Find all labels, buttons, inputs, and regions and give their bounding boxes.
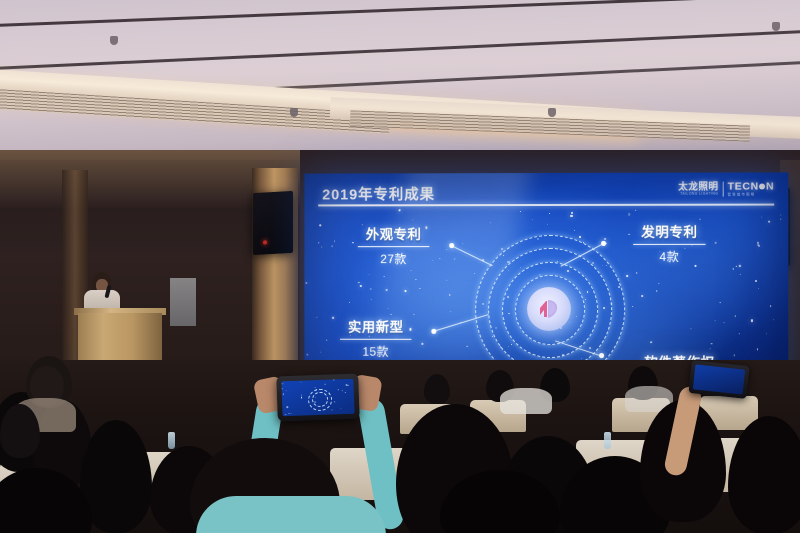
star bbox=[720, 302, 721, 303]
star bbox=[520, 211, 521, 212]
label-underline bbox=[340, 338, 411, 340]
label-value: 27款 bbox=[338, 250, 449, 267]
star bbox=[319, 225, 320, 226]
smartphone[interactable] bbox=[688, 360, 749, 399]
star bbox=[739, 265, 741, 267]
star bbox=[758, 288, 759, 289]
star bbox=[412, 219, 413, 220]
patent-p-icon bbox=[536, 297, 562, 321]
logo-english-name: TECNN bbox=[728, 181, 775, 192]
star bbox=[547, 224, 549, 226]
star bbox=[334, 401, 335, 402]
star bbox=[414, 313, 415, 314]
wall-speaker bbox=[253, 191, 293, 255]
star bbox=[360, 285, 362, 287]
star bbox=[321, 247, 322, 248]
star bbox=[773, 319, 774, 320]
smartphone-screen bbox=[693, 364, 745, 394]
label-value: 15款 bbox=[320, 343, 431, 360]
star bbox=[287, 407, 288, 408]
star bbox=[405, 290, 407, 292]
ceiling-seam bbox=[0, 0, 800, 28]
ceiling bbox=[0, 0, 800, 175]
star bbox=[756, 349, 758, 351]
star bbox=[733, 268, 734, 269]
ceiling-seam bbox=[0, 28, 800, 72]
star bbox=[780, 215, 781, 216]
label-name: 发明专利 bbox=[613, 221, 726, 241]
star bbox=[337, 389, 338, 390]
smartphone-screen bbox=[281, 379, 354, 416]
sprinkler-head bbox=[290, 108, 298, 117]
star bbox=[387, 308, 388, 309]
logo-chinese: 太龙照明 TAILONG LIGHTING bbox=[678, 182, 718, 196]
star bbox=[329, 393, 330, 394]
star bbox=[467, 346, 469, 348]
star bbox=[570, 215, 572, 217]
star bbox=[315, 397, 316, 398]
star bbox=[695, 265, 696, 266]
company-logo: 太龙照明 TAILONG LIGHTING TECNN 智慧城市照明 bbox=[678, 181, 774, 196]
star bbox=[306, 354, 308, 356]
star bbox=[420, 288, 421, 289]
patent-core bbox=[527, 287, 571, 331]
logo-chinese-tagline: TAILONG LIGHTING bbox=[680, 193, 718, 197]
star bbox=[761, 217, 762, 218]
star bbox=[282, 388, 283, 389]
star bbox=[282, 383, 283, 384]
star bbox=[331, 245, 333, 247]
label-underline bbox=[633, 243, 705, 245]
star bbox=[416, 279, 417, 280]
slide-title: 2019年专利成果 bbox=[322, 183, 435, 204]
star bbox=[636, 272, 638, 274]
star bbox=[318, 242, 319, 243]
star bbox=[449, 294, 451, 296]
star bbox=[283, 394, 284, 395]
label-invention-patent: 发明专利 4款 bbox=[613, 221, 726, 265]
star bbox=[346, 384, 348, 386]
sprinkler-head bbox=[110, 36, 118, 45]
star bbox=[641, 295, 643, 297]
star bbox=[288, 413, 289, 414]
star bbox=[574, 230, 575, 231]
star bbox=[410, 270, 411, 271]
sprinkler-head bbox=[548, 108, 556, 117]
star bbox=[740, 274, 741, 275]
star bbox=[314, 387, 315, 388]
conference-photo: 2019年专利成果 太龙照明 TAILONG LIGHTING TECNN 智慧… bbox=[0, 0, 800, 533]
star bbox=[347, 385, 348, 386]
star bbox=[549, 213, 550, 214]
star bbox=[571, 212, 573, 214]
label-name: 外观专利 bbox=[338, 223, 449, 243]
star bbox=[757, 242, 758, 243]
star bbox=[659, 283, 660, 284]
star bbox=[325, 383, 326, 384]
audience-shirt-teal bbox=[196, 496, 386, 533]
star bbox=[626, 275, 628, 277]
star bbox=[723, 322, 724, 323]
label-name: 实用新型 bbox=[320, 316, 431, 336]
star bbox=[358, 282, 360, 284]
star bbox=[736, 266, 737, 267]
logo-chinese-name: 太龙照明 bbox=[678, 182, 718, 192]
audience-head bbox=[424, 374, 450, 404]
star bbox=[770, 305, 772, 307]
star bbox=[781, 219, 782, 220]
star bbox=[711, 343, 712, 344]
logo-english-tagline: 智慧城市照明 bbox=[728, 193, 756, 196]
star bbox=[331, 409, 333, 411]
star bbox=[650, 341, 652, 343]
connector-dot bbox=[431, 329, 436, 334]
star bbox=[333, 380, 334, 381]
star bbox=[715, 320, 716, 321]
logo-english: TECNN 智慧城市照明 bbox=[728, 181, 775, 196]
star bbox=[632, 306, 633, 307]
star bbox=[334, 241, 336, 243]
star bbox=[532, 219, 533, 220]
star bbox=[462, 243, 463, 244]
label-utility-model: 实用新型 15款 bbox=[320, 316, 431, 360]
star bbox=[735, 316, 736, 317]
speaker-led bbox=[263, 240, 267, 244]
whiteboard bbox=[170, 278, 196, 326]
star bbox=[370, 299, 371, 300]
star bbox=[342, 390, 343, 391]
star bbox=[285, 414, 286, 415]
star bbox=[305, 282, 307, 284]
star bbox=[349, 302, 350, 303]
star bbox=[383, 276, 384, 277]
star bbox=[300, 381, 301, 382]
star bbox=[690, 328, 691, 329]
water-bottle bbox=[168, 432, 175, 449]
connector-dot bbox=[449, 243, 454, 248]
star bbox=[755, 280, 757, 282]
star bbox=[454, 259, 456, 261]
star bbox=[451, 311, 452, 312]
star bbox=[751, 319, 753, 321]
logo-dot-icon bbox=[759, 184, 765, 190]
label-value: 4款 bbox=[613, 248, 726, 265]
star bbox=[301, 394, 302, 395]
star bbox=[316, 317, 317, 318]
star bbox=[315, 401, 316, 402]
star bbox=[768, 221, 770, 223]
star bbox=[636, 210, 637, 211]
star bbox=[490, 222, 491, 223]
star bbox=[656, 290, 657, 291]
star bbox=[301, 397, 302, 398]
label-underline bbox=[358, 246, 429, 248]
water-bottle bbox=[604, 432, 611, 449]
logo-divider bbox=[723, 182, 724, 197]
star bbox=[369, 274, 370, 275]
star bbox=[386, 289, 388, 291]
star bbox=[290, 413, 291, 414]
star bbox=[446, 280, 447, 281]
star bbox=[738, 333, 739, 334]
star bbox=[628, 213, 630, 215]
audience-shirt bbox=[500, 388, 552, 414]
label-appearance-patent: 外观专利 27款 bbox=[338, 223, 449, 267]
star bbox=[758, 245, 760, 247]
sprinkler-head bbox=[772, 22, 780, 31]
star bbox=[369, 288, 371, 290]
star bbox=[710, 349, 711, 350]
star bbox=[766, 333, 767, 334]
star bbox=[340, 409, 341, 410]
smartphone[interactable] bbox=[276, 374, 360, 422]
star bbox=[285, 390, 286, 391]
